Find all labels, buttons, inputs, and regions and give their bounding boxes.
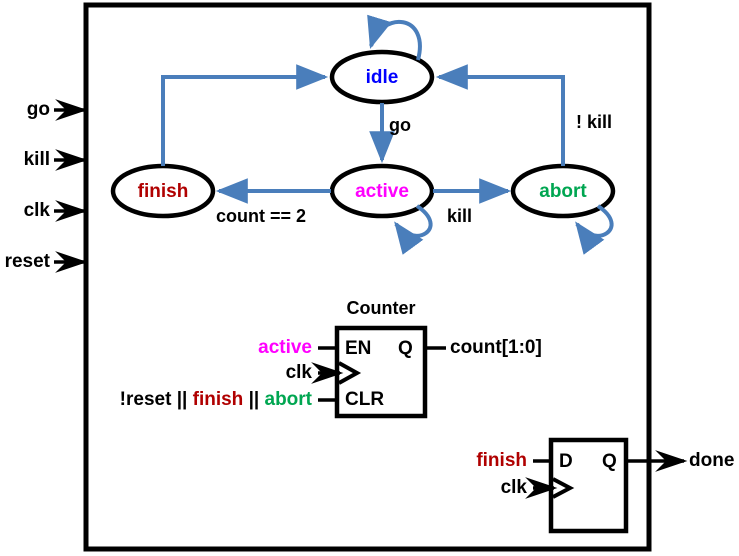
state-label-active: active — [332, 182, 432, 201]
clr-part-abort: abort — [265, 389, 313, 410]
counter-pin-clr-label: CLR — [345, 390, 384, 409]
clr-part-not-reset: !reset — [120, 389, 177, 410]
transition-abort-to-idle — [439, 77, 563, 166]
state-label-abort: abort — [513, 182, 613, 201]
clr-part-finish: finish — [193, 389, 249, 410]
input-label-clk: clk — [0, 201, 50, 220]
state-label-idle: idle — [332, 68, 432, 87]
counter-input-clk-signal: clk — [200, 363, 312, 382]
counter-pin-en-label: EN — [345, 339, 371, 358]
clr-part-or-1: || — [177, 389, 193, 410]
counter-block-title: Counter — [337, 299, 425, 317]
input-label-kill: kill — [0, 150, 50, 169]
counter-input-clr-expression: !reset || finish || abort — [95, 390, 312, 409]
transition-label-not-kill: ! kill — [576, 113, 612, 131]
flipflop-pin-d-label: D — [559, 452, 573, 471]
flipflop-pin-q-label: Q — [602, 452, 617, 471]
clr-part-or-2: || — [249, 389, 265, 410]
input-label-go: go — [0, 100, 50, 119]
transition-finish-to-idle — [163, 77, 325, 166]
transition-label-count-eq-2: count == 2 — [216, 207, 306, 225]
flipflop-input-clk-signal: clk — [415, 478, 527, 497]
counter-input-en-signal: active — [200, 338, 312, 357]
transition-label-go: go — [389, 116, 411, 134]
transition-label-kill: kill — [447, 207, 472, 225]
diagram-canvas: go kill clk reset done idle finish activ… — [0, 0, 739, 556]
state-label-finish: finish — [113, 182, 213, 201]
flipflop-input-d-signal: finish — [415, 451, 527, 470]
counter-pin-q-label: Q — [398, 339, 413, 358]
counter-output-count-signal: count[1:0] — [450, 338, 542, 357]
output-label-done: done — [689, 451, 739, 470]
input-label-reset: reset — [0, 252, 50, 271]
